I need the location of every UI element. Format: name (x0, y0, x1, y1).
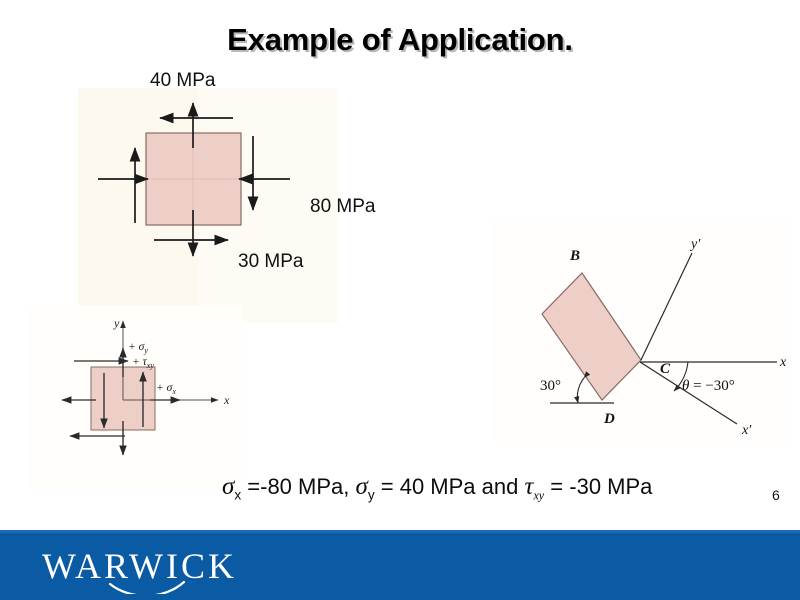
tau-subscript: xy (533, 488, 544, 502)
label-30-mpa: 30 MPa (238, 251, 303, 273)
vertex-label-b: B (569, 248, 580, 264)
warwick-wordmark: WARWICK (42, 546, 237, 586)
label-40-mpa: 40 MPa (150, 70, 215, 92)
sign-axis-y-label: y (113, 316, 120, 330)
axis-label-y-prime: y′ (689, 237, 701, 252)
slide-number: 6 (772, 487, 780, 503)
tau-value: = -30 MPa (544, 474, 652, 499)
sigma-x-value: =-80 MPa, (241, 474, 355, 499)
figure-sign-convention: y x + σy + τxy + σx (28, 305, 243, 490)
angle-label-theta: θ = −30° (682, 378, 735, 394)
axis-label-x-prime: x′ (741, 423, 752, 438)
slide-canvas: Example of Application. (0, 0, 800, 600)
page-title: Example of Application. (0, 22, 800, 58)
stress-values-equation: σx =-80 MPa, σy = 40 MPa and τxy = -30 M… (222, 473, 652, 503)
sigma-y-value: = 40 MPa and (375, 474, 525, 499)
warwick-logo: WARWICK (42, 542, 322, 594)
sigma-x-symbol: σ (222, 473, 234, 500)
axis-label-x: x (779, 355, 787, 370)
footer-bar: WARWICK (0, 530, 800, 600)
sign-axis-x-label: x (223, 393, 230, 407)
vertex-label-c: C (660, 361, 671, 377)
sigma-y-symbol: σ (356, 473, 368, 500)
angle-label-30: 30° (540, 378, 561, 394)
label-80-mpa: 80 MPa (310, 196, 375, 218)
figure-stress-element (78, 88, 338, 323)
figure-rotated-element: B C D y′ x x′ 30° θ = −30° (492, 218, 792, 443)
vertex-label-d: D (603, 411, 615, 427)
footer-top-rule (0, 530, 800, 533)
sigma-y-subscript: y (368, 487, 375, 502)
